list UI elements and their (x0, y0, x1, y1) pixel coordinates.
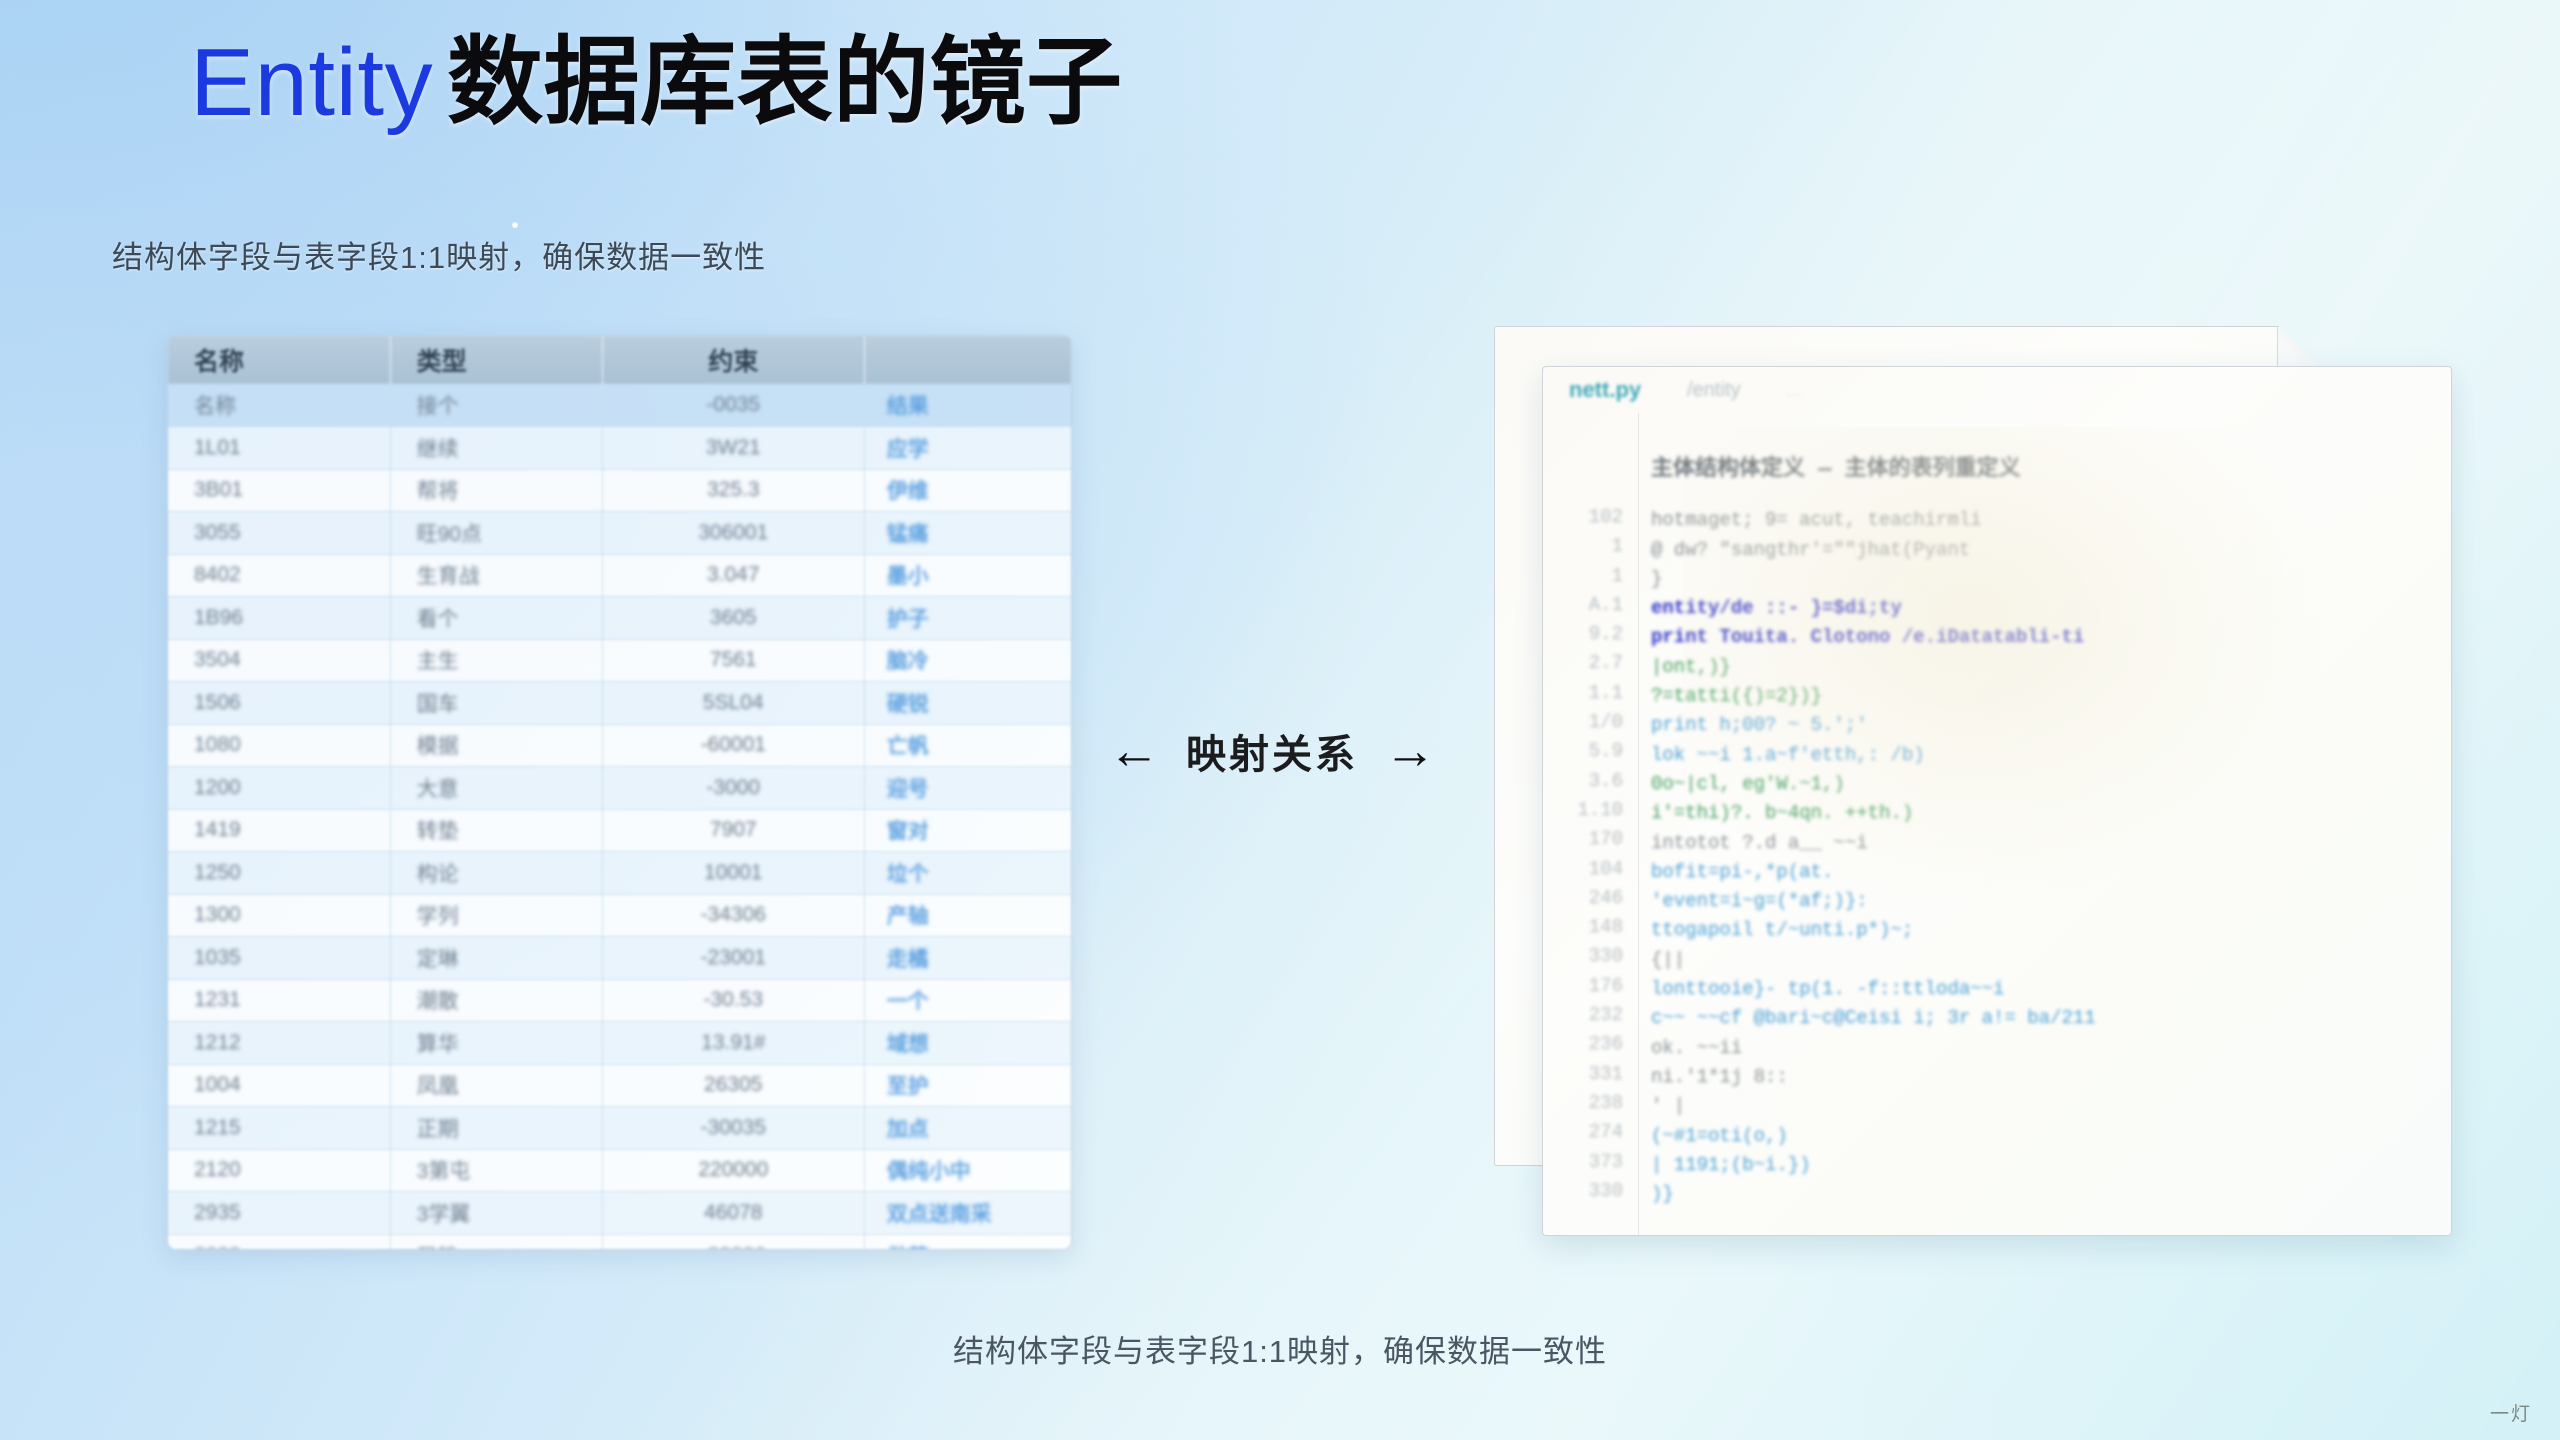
table-cell: 1B96 (168, 597, 390, 640)
code-card-stack: nett.py /entity ... 10211A.19.22.71.11/0… (1494, 326, 2474, 1266)
code-line: )} (1651, 1180, 2437, 1209)
table-cell: 构论 (390, 852, 602, 895)
table-header-row: 名称 类型 约束 (168, 336, 1071, 384)
table-cell: -23001 (602, 937, 864, 980)
code-line: entity/de ::- }=$di;ty (1651, 594, 2437, 623)
table-cell: 1004 (168, 1064, 390, 1107)
code-line: {|| (1651, 946, 2437, 975)
table-row[interactable]: 1035定琳-23001走橘 (168, 937, 1071, 980)
table-cell: 偶纯小中 (864, 1149, 1071, 1192)
code-line: | 1191;(b~i.}) (1651, 1151, 2437, 1180)
code-line-number: 232 (1543, 1001, 1623, 1030)
code-line-number: 3.6 (1543, 767, 1623, 796)
table-row[interactable]: 2020又铁-30036做营 (168, 1234, 1071, 1250)
table-cell: 3学翼 (390, 1192, 602, 1235)
table-cell: 3.047 (602, 554, 864, 597)
code-line: print Touita. Clotono /e.iDatatabli-ti (1651, 623, 2437, 652)
table-cell: 3055 (168, 512, 390, 555)
code-line-number: 5.9 (1543, 737, 1623, 766)
table-cell: -30.53 (602, 979, 864, 1022)
table-row[interactable]: 1215正期-30035加点 (168, 1107, 1071, 1150)
table-cell: 域想 (864, 1022, 1071, 1065)
table-row[interactable]: 1212算华13.91#域想 (168, 1022, 1071, 1065)
code-line-number: 246 (1543, 884, 1623, 913)
code-line: i'=thi)?. b~4qn. ++th.) (1651, 799, 2437, 828)
table-cell: 3B01 (168, 469, 390, 512)
table-row[interactable]: 1506国车5SL04硬锐 (168, 682, 1071, 725)
code-line-number: 1 (1543, 532, 1623, 561)
table-cell: 1419 (168, 809, 390, 852)
table-cell: 1080 (168, 724, 390, 767)
table-cell: 垃个 (864, 852, 1071, 895)
code-file-tab[interactable]: nett.py (1569, 377, 1641, 403)
table-row[interactable]: 1419转垫7907窗对 (168, 809, 1071, 852)
code-line: ok. ~~ii (1651, 1034, 2437, 1063)
database-table-body: 名称接个-0035结果1L01继续3W21应学3B01帮将325.3伊维3055… (168, 384, 1071, 1250)
table-cell: 325.3 (602, 469, 864, 512)
code-line-number: 9.2 (1543, 620, 1623, 649)
code-file-path: /entity (1687, 379, 1740, 402)
column-header-constraint: 约束 (602, 336, 864, 384)
table-cell: 1200 (168, 767, 390, 810)
table-cell: 7907 (602, 809, 864, 852)
code-line-number: 1 (1543, 562, 1623, 591)
code-line-number: 104 (1543, 855, 1623, 884)
code-editor-tabbar: nett.py /entity ... (1543, 367, 2451, 413)
code-line: } (1651, 565, 2437, 594)
bottom-caption: 结构体字段与表字段1:1映射，确保数据一致性 (0, 1326, 2560, 1371)
table-cell: 亡帆 (864, 724, 1071, 767)
code-line-number: 236 (1543, 1030, 1623, 1059)
table-cell: 3W21 (602, 427, 864, 470)
table-cell: 脑冷 (864, 639, 1071, 682)
table-row[interactable]: 3055旺90点306001锰痛 (168, 512, 1071, 555)
table-cell: 名称 (168, 384, 390, 427)
code-line-number: 331 (1543, 1060, 1623, 1089)
table-cell: 模据 (390, 724, 602, 767)
table-cell: 7561 (602, 639, 864, 682)
code-line: @ dw? "sangthr'=""jhat(Pyant (1651, 536, 2437, 565)
table-cell: 学列 (390, 894, 602, 937)
table-cell: 1L01 (168, 427, 390, 470)
table-cell: 凤凰 (390, 1064, 602, 1107)
table-cell: 做营 (864, 1234, 1071, 1250)
table-cell: 迎号 (864, 767, 1071, 810)
table-cell: 1300 (168, 894, 390, 937)
table-cell: 306001 (602, 512, 864, 555)
code-line-number: 102 (1543, 503, 1623, 532)
table-cell: 锰痛 (864, 512, 1071, 555)
code-line: intotot ?.d a__ ~~i (1651, 829, 2437, 858)
table-cell: -30035 (602, 1107, 864, 1150)
code-line-number: 148 (1543, 913, 1623, 942)
code-line: ttogapoil t/~unti.p*)~; (1651, 916, 2437, 945)
table-cell: 国车 (390, 682, 602, 725)
table-cell: 正期 (390, 1107, 602, 1150)
code-line-number: 1/0 (1543, 708, 1623, 737)
table-row[interactable]: 1250构论10001垃个 (168, 852, 1071, 895)
arrow-right-icon: → (1384, 725, 1436, 777)
code-line: 'event=i~g=(*af;)}: (1651, 887, 2437, 916)
table-cell: 转垫 (390, 809, 602, 852)
code-lines: hotmaget; 9= acut, teachirmli@ dw? "sang… (1651, 506, 2437, 1209)
table-row[interactable]: 8402生育战3.047墨小 (168, 554, 1071, 597)
table-cell: -60001 (602, 724, 864, 767)
table-cell: 至护 (864, 1064, 1071, 1107)
table-cell: 生育战 (390, 554, 602, 597)
table-row[interactable]: 1B96看个3605护子 (168, 597, 1071, 640)
table-cell: 1506 (168, 682, 390, 725)
code-tab-extra: ... (1786, 380, 1801, 401)
table-cell: 又铁 (390, 1234, 602, 1250)
code-editor-card: nett.py /entity ... 10211A.19.22.71.11/0… (1542, 366, 2452, 1236)
code-line: c~~ ~~cf @bari~c@Ceisi i; 3r a!= ba/211 (1651, 1004, 2437, 1033)
code-line: ?=tatti({)=2})} (1651, 682, 2437, 711)
table-row[interactable]: 3504主生7561脑冷 (168, 639, 1071, 682)
table-cell: 旺90点 (390, 512, 602, 555)
code-line-number: 274 (1543, 1118, 1623, 1147)
table-row[interactable]: 1200大意-3000迎号 (168, 767, 1071, 810)
table-row[interactable]: 1231潮散-30.53一个 (168, 979, 1071, 1022)
code-line: ni.'1*1j 8:: (1651, 1063, 2437, 1092)
code-line: 0o~|cl, eg'W.~1,) (1651, 770, 2437, 799)
code-line: (~#1=oti(o,) (1651, 1122, 2437, 1151)
mapping-relation-label: 映射关系 (1186, 722, 1358, 780)
table-cell: 2120 (168, 1149, 390, 1192)
table-cell: 双点送南采 (864, 1192, 1071, 1235)
table-cell: 定琳 (390, 937, 602, 980)
table-cell: 大意 (390, 767, 602, 810)
table-cell: -3000 (602, 767, 864, 810)
table-cell: 硬锐 (864, 682, 1071, 725)
table-cell: 窗对 (864, 809, 1071, 852)
table-cell: -34306 (602, 894, 864, 937)
table-cell: 潮散 (390, 979, 602, 1022)
table-cell: 8402 (168, 554, 390, 597)
table-cell: 墨小 (864, 554, 1071, 597)
table-cell: 看个 (390, 597, 602, 640)
column-header-type: 类型 (390, 336, 602, 384)
code-line-number: 330 (1543, 942, 1623, 971)
decorative-speck (512, 222, 518, 228)
table-cell: 主生 (390, 639, 602, 682)
code-line-number: 1.10 (1543, 796, 1623, 825)
code-line-number: 1.1 (1543, 679, 1623, 708)
table-row[interactable]: 1080模据-60001亡帆 (168, 724, 1071, 767)
table-cell: 2020 (168, 1234, 390, 1250)
code-line-number: 330 (1543, 1177, 1623, 1206)
table-cell: 伊维 (864, 469, 1071, 512)
table-cell: -0035 (602, 384, 864, 427)
watermark: 一灯 (2490, 1399, 2532, 1426)
code-line: print h;00? ~ 5.';' (1651, 711, 2437, 740)
table-cell: 3605 (602, 597, 864, 640)
page-title-english: Entity (190, 29, 433, 136)
table-cell: 走橘 (864, 937, 1071, 980)
code-line: lok ~~i 1.a~f'etth,: /b) (1651, 741, 2437, 770)
table-row[interactable]: 21203第屯220000偶纯小中 (168, 1149, 1071, 1192)
table-cell: 应学 (864, 427, 1071, 470)
table-cell: 产轴 (864, 894, 1071, 937)
table-cell: 接个 (390, 384, 602, 427)
code-content[interactable]: 主体结构体定义 — 主体的表列重定义 hotmaget; 9= acut, te… (1651, 413, 2437, 1235)
table-cell: -30036 (602, 1234, 864, 1250)
table-cell: 护子 (864, 597, 1071, 640)
table-cell: 1035 (168, 937, 390, 980)
table-cell: 1215 (168, 1107, 390, 1150)
table-cell: 结果 (864, 384, 1071, 427)
code-comment-line: 主体结构体定义 — 主体的表列重定义 (1651, 455, 2437, 484)
table-cell: 3第屯 (390, 1149, 602, 1192)
table-cell: 220000 (602, 1149, 864, 1192)
page-subtitle: 结构体字段与表字段1:1映射，确保数据一致性 (112, 232, 766, 277)
table-cell: 1250 (168, 852, 390, 895)
table-row[interactable]: 1300学列-34306产轴 (168, 894, 1071, 937)
database-table: 名称 类型 约束 名称接个-0035结果1L01继续3W21应学3B01帮将32… (168, 336, 1071, 1250)
table-row[interactable]: 名称接个-0035结果 (168, 384, 1071, 427)
table-cell: 一个 (864, 979, 1071, 1022)
mapping-relation-indicator: ← 映射关系 → (1108, 722, 1436, 780)
table-cell: 帮将 (390, 469, 602, 512)
table-row[interactable]: 29353学翼46078双点送南采 (168, 1192, 1071, 1235)
code-line-number: 373 (1543, 1148, 1623, 1177)
page-title-chinese: 数据库表的镜子 (447, 29, 1123, 136)
table-cell: 1231 (168, 979, 390, 1022)
code-line-number: 238 (1543, 1089, 1623, 1118)
code-line: hotmaget; 9= acut, teachirmli (1651, 506, 2437, 535)
table-cell: 加点 (864, 1107, 1071, 1150)
table-cell: 10001 (602, 852, 864, 895)
code-line-numbers: 10211A.19.22.71.11/05.93.61.101701042461… (1543, 413, 1639, 1206)
table-cell: 46078 (602, 1192, 864, 1235)
database-table-card: 名称 类型 约束 名称接个-0035结果1L01继续3W21应学3B01帮将32… (167, 335, 1072, 1250)
table-row[interactable]: 3B01帮将325.3伊维 (168, 469, 1071, 512)
table-cell: 1212 (168, 1022, 390, 1065)
column-header-name: 名称 (168, 336, 390, 384)
code-line-number: 170 (1543, 825, 1623, 854)
table-cell: 2935 (168, 1192, 390, 1235)
code-line-number: A.1 (1543, 591, 1623, 620)
column-header-extra (864, 336, 1071, 384)
table-cell: 继续 (390, 427, 602, 470)
table-row[interactable]: 1004凤凰26305至护 (168, 1064, 1071, 1107)
arrow-left-icon: ← (1108, 725, 1160, 777)
code-line: ' | (1651, 1092, 2437, 1121)
code-line: lonttooie}- tp(1. -f::ttloda~~i (1651, 975, 2437, 1004)
table-cell: 3504 (168, 639, 390, 682)
table-cell: 26305 (602, 1064, 864, 1107)
code-line-number: 2.7 (1543, 649, 1623, 678)
page-title: Entity数据库表的镜子 (190, 28, 1123, 138)
table-cell: 算华 (390, 1022, 602, 1065)
code-line: |ont,)} (1651, 653, 2437, 682)
table-cell: 5SL04 (602, 682, 864, 725)
code-line-number: 176 (1543, 972, 1623, 1001)
code-line: bofit=pi-,*p(at. (1651, 858, 2437, 887)
table-row[interactable]: 1L01继续3W21应学 (168, 427, 1071, 470)
table-cell: 13.91# (602, 1022, 864, 1065)
